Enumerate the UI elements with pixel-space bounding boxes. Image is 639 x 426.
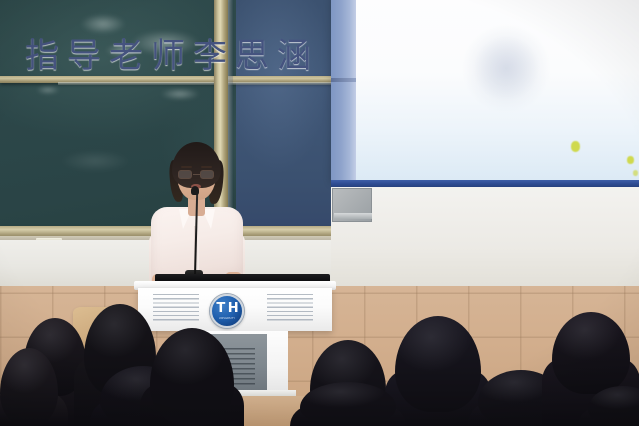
lecture-hall-photo: 指导老师李思涵 [0, 0, 639, 426]
glasses-bridge [193, 174, 200, 175]
slide-decoration-dot [571, 141, 580, 152]
chalk-smudge [60, 150, 130, 172]
screen-bottom-edge [331, 180, 639, 187]
emblem-monogram: T H [216, 302, 237, 315]
slide-decoration-dot [633, 170, 638, 176]
slide-title-text: 指导老师李思涵 [25, 28, 314, 77]
speaker-eyebrow-left [181, 166, 192, 168]
microphone-icon [191, 186, 199, 195]
glasses-lens-left [178, 170, 192, 179]
chalk-smudge [36, 86, 60, 94]
slide-left-band [331, 0, 356, 180]
university-emblem-icon: T H UNIVERSITY [210, 294, 244, 328]
blackboard-rail-highlight [58, 82, 340, 85]
slide-decoration-dot [627, 156, 634, 164]
emblem-subtext: UNIVERSITY [219, 317, 235, 320]
podium-vent-left [153, 294, 199, 321]
glasses-lens-right [200, 170, 214, 179]
chalk-smudge [160, 88, 200, 100]
window-frame [332, 188, 372, 222]
slide-surface [356, 0, 639, 180]
podium-vent-right [267, 294, 313, 321]
wall-right [331, 187, 639, 288]
speaker-eyebrow-right [201, 166, 212, 168]
projection-screen [331, 0, 639, 180]
audience-member-head [300, 382, 396, 426]
glasses-icon [178, 170, 215, 179]
